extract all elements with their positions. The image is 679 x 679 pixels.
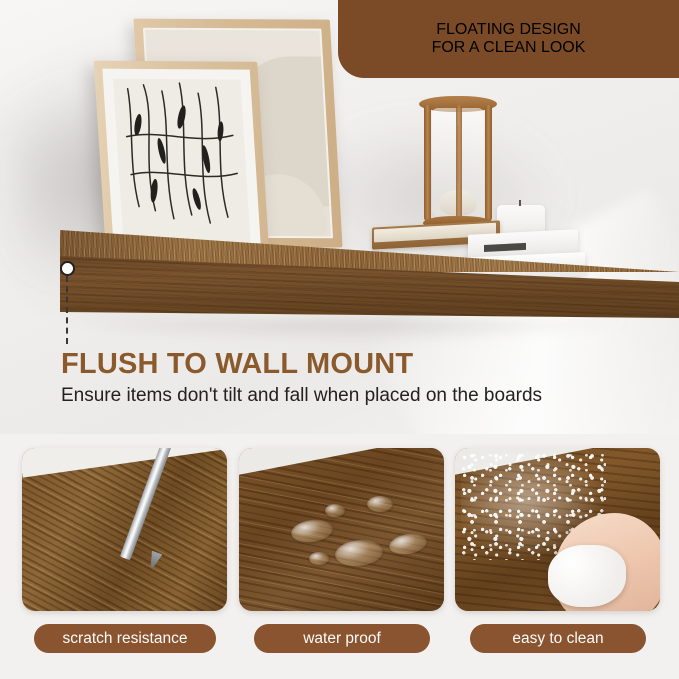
candle-wick <box>519 200 521 206</box>
feature-pill-scratch-resistance: scratch resistance <box>34 624 216 653</box>
thumbnail-easy-to-clean[interactable] <box>455 448 660 611</box>
feature-headline: FLUSH TO WALL MOUNT <box>61 348 413 381</box>
frame-artwork <box>113 79 251 244</box>
feature-thumbnail-strip <box>0 448 679 620</box>
hourglass-post <box>456 105 462 221</box>
water-droplet <box>325 504 345 517</box>
wooden-hourglass <box>415 96 501 230</box>
cleaning-cloth <box>548 545 626 607</box>
callout-dashed-line <box>66 276 68 344</box>
banner-line-1: FLOATING DESIGN <box>436 21 581 39</box>
water-droplet <box>309 552 329 565</box>
abstract-line-art-icon <box>113 79 251 244</box>
hourglass-post <box>424 105 431 221</box>
water-droplet <box>367 496 393 512</box>
framed-abstract-line-art-print <box>94 61 269 252</box>
thumbnail-water-proof[interactable] <box>239 448 444 611</box>
header-banner: FLOATING DESIGN FOR A CLEAN LOOK <box>338 0 679 78</box>
feature-pill-water-proof: water proof <box>254 624 430 653</box>
product-feature-infographic: FLOATING DESIGN FOR A CLEAN LOOK FLUSH T… <box>0 0 679 679</box>
wood-surface <box>239 448 444 611</box>
feature-pill-easy-to-clean: easy to clean <box>470 624 646 653</box>
feature-subline: Ensure items don't tilt and fall when pl… <box>61 385 542 407</box>
hourglass-post <box>485 105 492 221</box>
thumbnail-scratch-resistance[interactable] <box>22 448 227 611</box>
banner-line-2: FOR A CLEAN LOOK <box>432 39 586 57</box>
floating-wood-shelf <box>60 226 679 330</box>
wall-mount-dot <box>60 261 75 276</box>
